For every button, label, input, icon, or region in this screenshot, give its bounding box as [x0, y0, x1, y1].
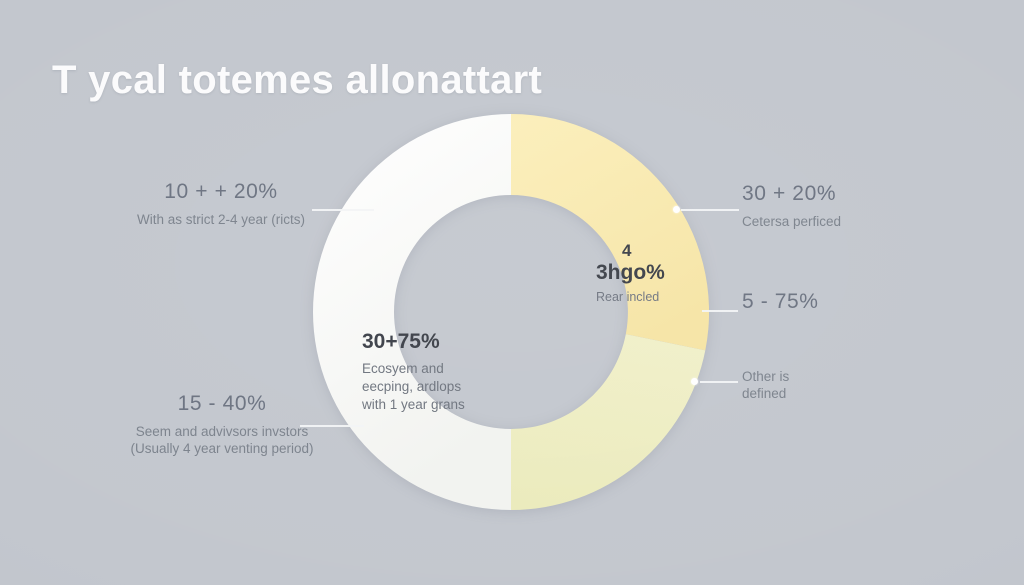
slice-bottom-right-pale — [511, 334, 705, 510]
chart-canvas: T ycal totemes allonattart — [0, 0, 1024, 585]
callout-bottom-right-line1: Other is — [742, 368, 992, 385]
slice-label-right-line1: Rear incled — [596, 288, 665, 306]
leader-line-top-right — [681, 209, 739, 211]
callout-bottom-left: 15 - 40% Seem and advivsors invstors (Us… — [92, 392, 352, 457]
leader-line-middle-right — [702, 310, 738, 312]
slice-label-left-percent: 30+75% — [362, 330, 465, 354]
callout-bottom-right-line2: defined — [742, 385, 992, 402]
slice-label-left-line1: Ecosyem and — [362, 360, 465, 378]
chart-title: T ycal totemes allonattart — [52, 58, 542, 103]
leader-line-bottom-right — [700, 381, 738, 383]
callout-middle-right-percent: 5 - 75% — [742, 290, 992, 314]
slice-label-right-percent-block: 43hgo% — [596, 240, 665, 284]
slice-label-top-right-yellow: 43hgo% Rear incled — [596, 240, 665, 306]
slice-label-right-percent: 3hgo% — [596, 261, 665, 284]
slice-top-right-yellow — [511, 114, 709, 350]
slice-label-left-line3: with 1 year grans — [362, 396, 465, 414]
callout-top-right-percent: 30 + 20% — [742, 182, 992, 206]
callout-top-left-percent: 10 + + 20% — [96, 180, 346, 204]
donut-chart — [313, 114, 709, 510]
callout-top-right-line1: Cetersa perficed — [742, 213, 992, 230]
slice-label-left-line2: eecping, ardlops — [362, 378, 465, 396]
callout-top-right: 30 + 20% Cetersa perficed — [742, 182, 992, 230]
callout-bottom-left-line1: Seem and advivsors invstors — [92, 423, 352, 440]
donut-chart-svg — [313, 114, 709, 510]
callout-bottom-left-percent: 15 - 40% — [92, 392, 352, 416]
callout-middle-right: 5 - 75% — [742, 290, 992, 321]
callout-bottom-left-line2: (Usually 4 year venting period) — [92, 440, 352, 457]
callout-top-left: 10 + + 20% With as strict 2-4 year (rict… — [96, 180, 346, 228]
callout-top-left-line1: With as strict 2-4 year (ricts) — [96, 211, 346, 228]
leader-dot-bottom-right — [691, 378, 698, 385]
slice-label-right-number: 4 — [622, 240, 665, 262]
slice-label-left-white: 30+75% Ecosyem and eecping, ardlops with… — [362, 330, 465, 414]
leader-dot-top-right — [673, 206, 680, 213]
callout-bottom-right: Other is defined — [742, 368, 992, 402]
